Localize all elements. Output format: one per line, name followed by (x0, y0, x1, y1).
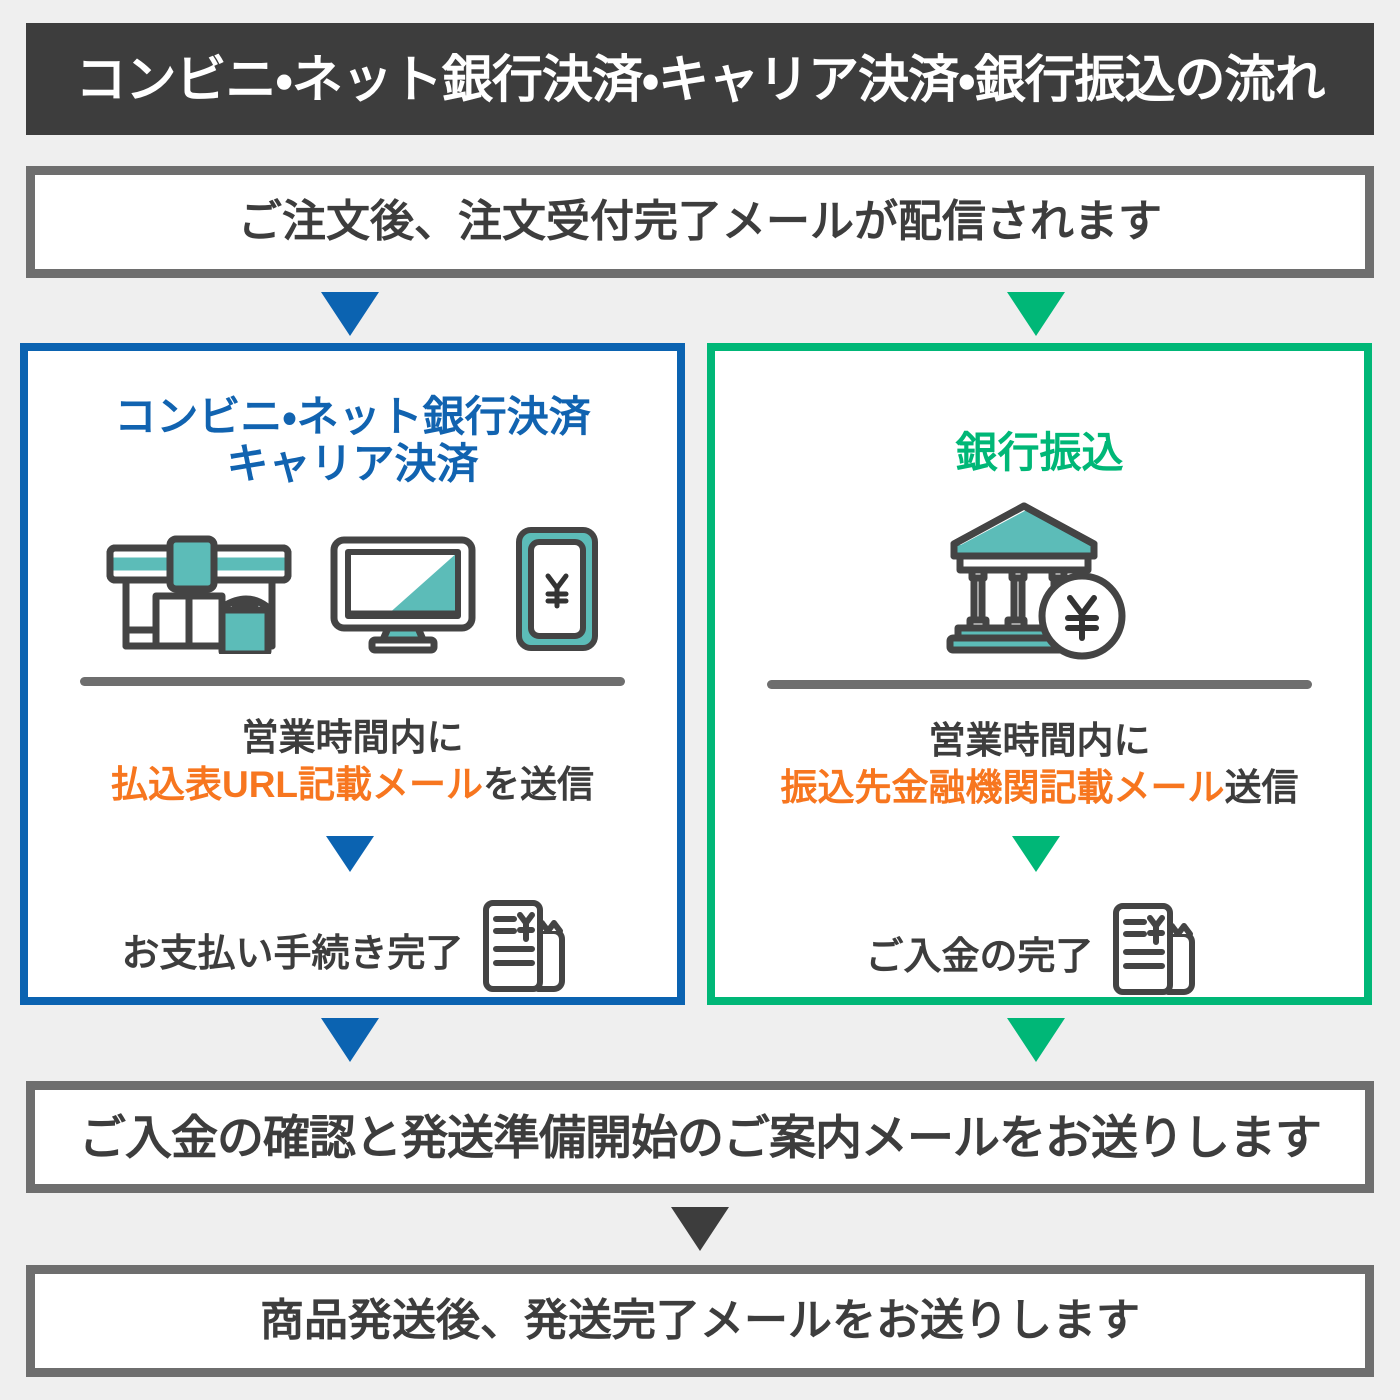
panel-conveni-title: コンビニ・ネット銀行決済 キャリア決済 (28, 393, 677, 487)
conveni-note-highlight: 払込表URL記載メール (111, 764, 483, 805)
step-payment-confirmed: ご入金の確認と発送準備開始のご案内メールをお送りします (26, 1081, 1374, 1193)
desktop-monitor-icon (328, 534, 478, 659)
conveni-result-row: お支払い手続き完了 (28, 897, 677, 1002)
diagram-header: コンビニ・ネット銀行決済・キャリア決済・銀行振込の流れ (26, 23, 1374, 135)
bank-result-row: ご入金の完了 (715, 900, 1364, 1005)
receipt-yen-icon (474, 897, 584, 1002)
bank-divider (767, 680, 1312, 689)
convenience-store-icon (104, 534, 294, 659)
conveni-result-label: お支払い手続き完了 (121, 922, 463, 977)
receipt-yen-icon (1104, 900, 1214, 1005)
conveni-note: 営業時間内に 払込表URL記載メールを送信 (28, 714, 677, 809)
step-shipping-complete: 商品発送後、発送完了メールをお送りします (26, 1265, 1374, 1377)
bank-result-label: ご入金の完了 (865, 925, 1093, 980)
bank-note-highlight: 振込先金融機関記載メール (781, 767, 1225, 808)
arrow-down-to-bank-icon (1007, 292, 1065, 336)
conveni-icon-row (28, 509, 677, 659)
arrow-down-to-payment-complete-icon (326, 836, 374, 872)
bank-icon-row (715, 490, 1364, 668)
step-ship-label: 商品発送後、発送完了メールをお送りします (260, 1299, 1140, 1343)
payment-flow-diagram: コンビニ・ネット銀行決済・キャリア決済・銀行振込の流れ ご注文後、注文受付完了メ… (0, 0, 1400, 1400)
panel-bank-transfer: 銀行振込 (707, 343, 1372, 1005)
arrow-down-from-conveni-icon (321, 1018, 379, 1062)
panel-convenience-payment: コンビニ・ネット銀行決済 キャリア決済 (20, 343, 685, 1005)
arrow-down-to-conveni-icon (321, 292, 379, 336)
step-order-label: ご注文後、注文受付完了メールが配信されます (238, 200, 1162, 244)
conveni-note-line1: 営業時間内に (242, 717, 464, 758)
bank-note-line1: 営業時間内に (929, 720, 1151, 761)
bank-building-yen-icon (940, 498, 1140, 668)
smartphone-yen-icon (512, 524, 602, 659)
bank-note: 営業時間内に 振込先金融機関記載メール送信 (715, 717, 1364, 812)
arrow-down-from-bank-icon (1007, 1018, 1065, 1062)
page-title: コンビニ・ネット銀行決済・キャリア決済・銀行振込の流れ (75, 54, 1324, 105)
bank-note-suffix: 送信 (1225, 767, 1299, 808)
conveni-divider (80, 677, 625, 686)
step-order-received: ご注文後、注文受付完了メールが配信されます (26, 166, 1374, 278)
arrow-down-to-shipped-icon (671, 1207, 729, 1251)
panel-bank-title: 銀行振込 (715, 429, 1364, 476)
arrow-down-to-deposit-complete-icon (1012, 836, 1060, 872)
conveni-note-suffix: を送信 (483, 764, 594, 805)
step-confirm-label: ご入金の確認と発送準備開始のご案内メールをお送りします (79, 1114, 1321, 1161)
